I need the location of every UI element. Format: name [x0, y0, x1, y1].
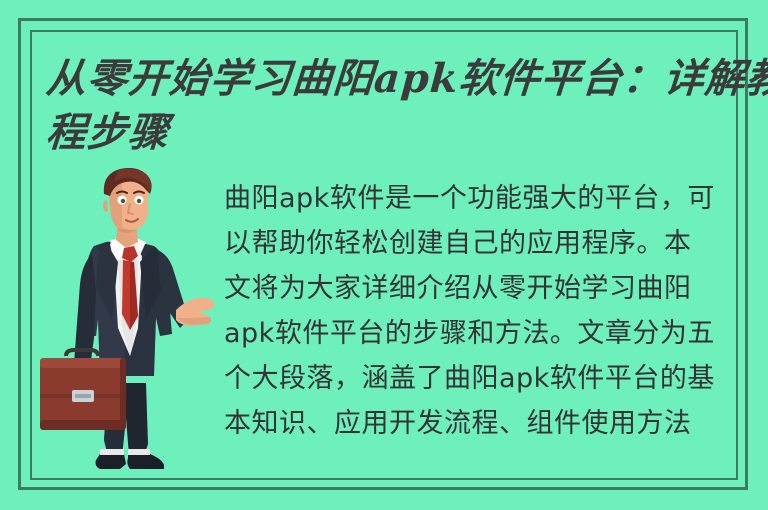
businessman-presenting-illustration [34, 168, 220, 490]
title-line-1: 从零开始学习曲阳apk软件平台：详解教 [44, 52, 738, 106]
body-line-1: 曲阳apk软件是一个功能强大的平台，可 [224, 176, 738, 221]
page-title: 从零开始学习曲阳apk软件平台：详解教 程步骤 [46, 52, 736, 160]
body-line-6: 本知识、应用开发流程、组件使用方法 [224, 401, 738, 446]
body-line-5: 个大段落，涵盖了曲阳apk软件平台的基 [224, 356, 738, 401]
title-line-2: 程步骤 [44, 106, 738, 160]
article-body: 曲阳apk软件是一个功能强大的平台，可 以帮助你轻松创建自己的应用程序。本 文将… [224, 176, 738, 446]
body-line-3: 文将为大家详细介绍从零开始学习曲阳 [224, 266, 738, 311]
poster-canvas: 从零开始学习曲阳apk软件平台：详解教 程步骤 [0, 0, 768, 510]
body-line-4: apk软件平台的步骤和方法。文章分为五 [224, 311, 738, 356]
body-line-2: 以帮助你轻松创建自己的应用程序。本 [224, 221, 738, 266]
